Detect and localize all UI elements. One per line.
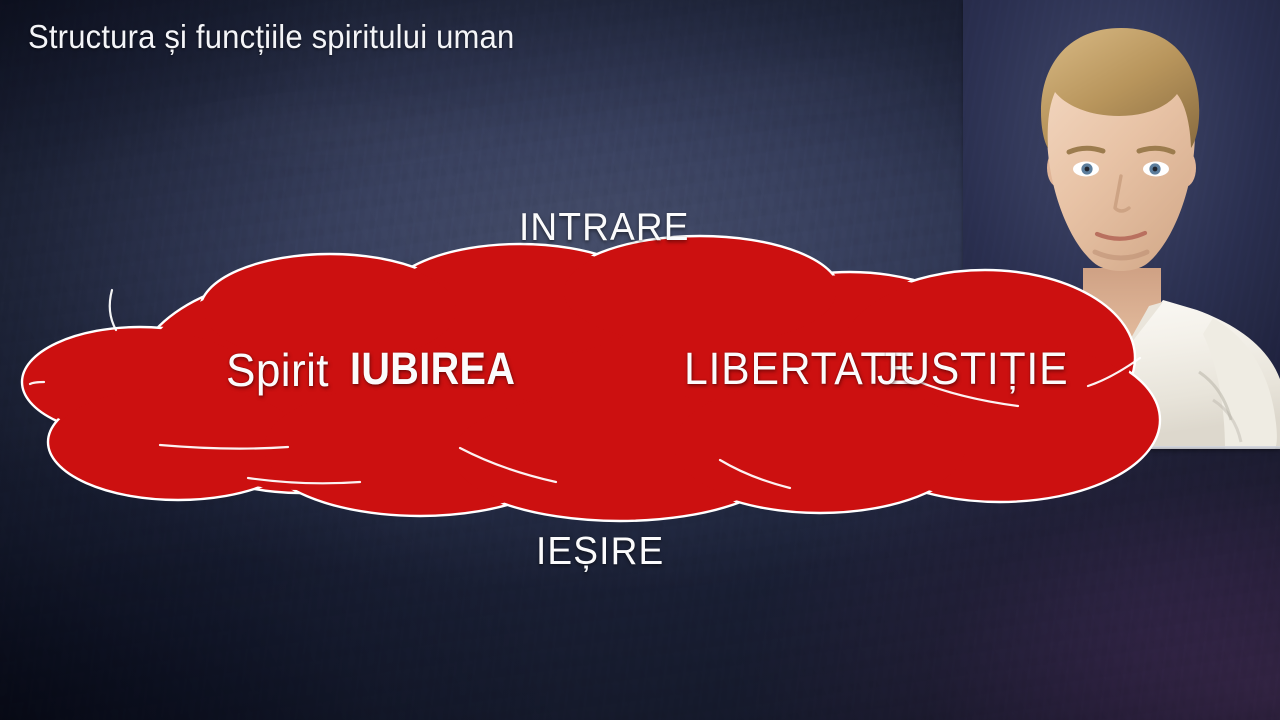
cloud-term-iubirea: IUBIREA [350, 343, 515, 395]
flow-label-output: IEȘIRE [536, 530, 664, 574]
flow-label-input: INTRARE [519, 206, 690, 250]
page-title: Structura și funcțiile spiritului uman [28, 18, 514, 56]
slide-canvas: Structura și funcțiile spiritului uman I… [0, 0, 1280, 720]
cloud-term-spirit: Spirit [226, 343, 329, 397]
cloud-term-justitie: JUSTIȚIE [877, 343, 1068, 395]
